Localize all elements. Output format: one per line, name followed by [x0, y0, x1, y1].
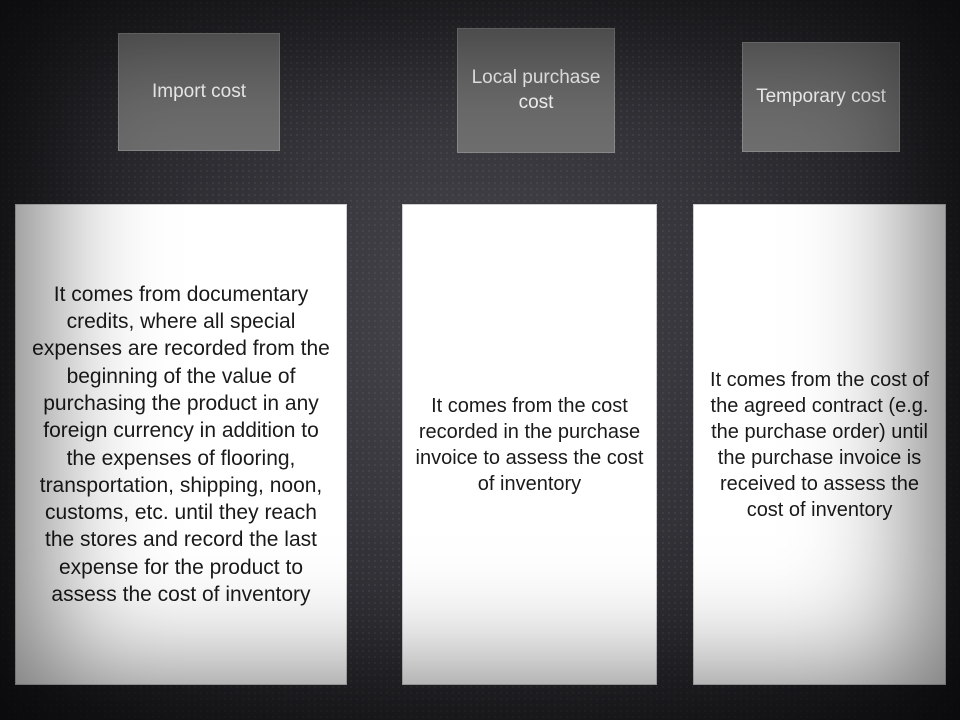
header-box-import-cost: Import cost: [118, 33, 280, 151]
body-box-temporary-cost: It comes from the cost of the agreed con…: [693, 204, 946, 685]
body-box-local-purchase-cost: It comes from the cost recorded in the p…: [402, 204, 657, 685]
header-box-temporary-cost: Temporary cost: [742, 42, 900, 152]
header-label-import-cost: Import cost: [152, 80, 246, 104]
body-box-import-cost: It comes from documentary credits, where…: [15, 204, 347, 685]
body-text-temporary-cost: It comes from the cost of the agreed con…: [706, 367, 933, 523]
header-box-local-purchase-cost: Local purchase cost: [457, 28, 615, 153]
header-label-temporary-cost: Temporary cost: [756, 85, 886, 109]
body-text-import-cost: It comes from documentary credits, where…: [28, 281, 334, 609]
slide-canvas: Import cost Local purchase cost Temporar…: [0, 0, 960, 720]
body-text-local-purchase-cost: It comes from the cost recorded in the p…: [415, 393, 644, 497]
header-label-local-purchase-cost: Local purchase cost: [468, 66, 604, 115]
